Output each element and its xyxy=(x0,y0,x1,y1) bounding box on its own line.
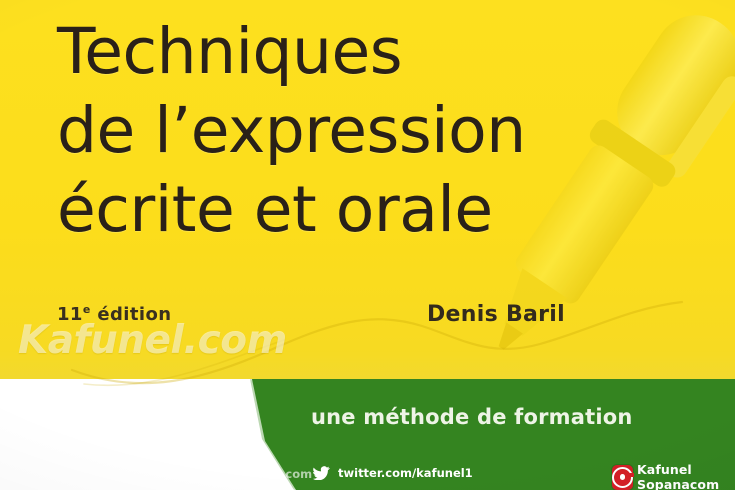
contact-twitter-label: twitter.com/kafunel1 xyxy=(338,466,473,480)
author-name: Denis Baril xyxy=(427,302,565,327)
book-cover-image: Techniques de l’expression écrite et ora… xyxy=(0,0,735,490)
envelope-icon xyxy=(22,467,39,481)
edition-word: édition xyxy=(97,304,171,325)
brand-badge[interactable]: Kafunel Sopanacom xyxy=(612,462,735,490)
edition-number: 11 xyxy=(57,304,83,325)
twitter-bird-icon xyxy=(313,466,330,480)
brand-label: Kafunel Sopanacom xyxy=(637,462,735,490)
title-line-1: Techniques xyxy=(57,12,657,91)
contact-email-label: kafunel@kafunel.com xyxy=(47,467,187,481)
title-line-2: de l’expression xyxy=(57,91,657,170)
title-line-3: écrite et orale xyxy=(57,170,657,249)
page-title: Techniques de l’expression écrite et ora… xyxy=(57,12,657,249)
tagline: une méthode de formation xyxy=(311,405,633,429)
copyright-c-icon xyxy=(612,465,633,490)
edition-label: 11e édition xyxy=(57,303,171,325)
contact-twitter[interactable]: twitter.com/kafunel1 xyxy=(313,466,473,480)
contact-website[interactable]: www.kafunel.com xyxy=(172,467,312,481)
contact-website-label: www.kafunel.com xyxy=(197,467,312,481)
edition-ordinal-suffix: e xyxy=(83,303,91,316)
globe-icon xyxy=(172,467,189,481)
contact-email[interactable]: kafunel@kafunel.com xyxy=(22,467,187,481)
